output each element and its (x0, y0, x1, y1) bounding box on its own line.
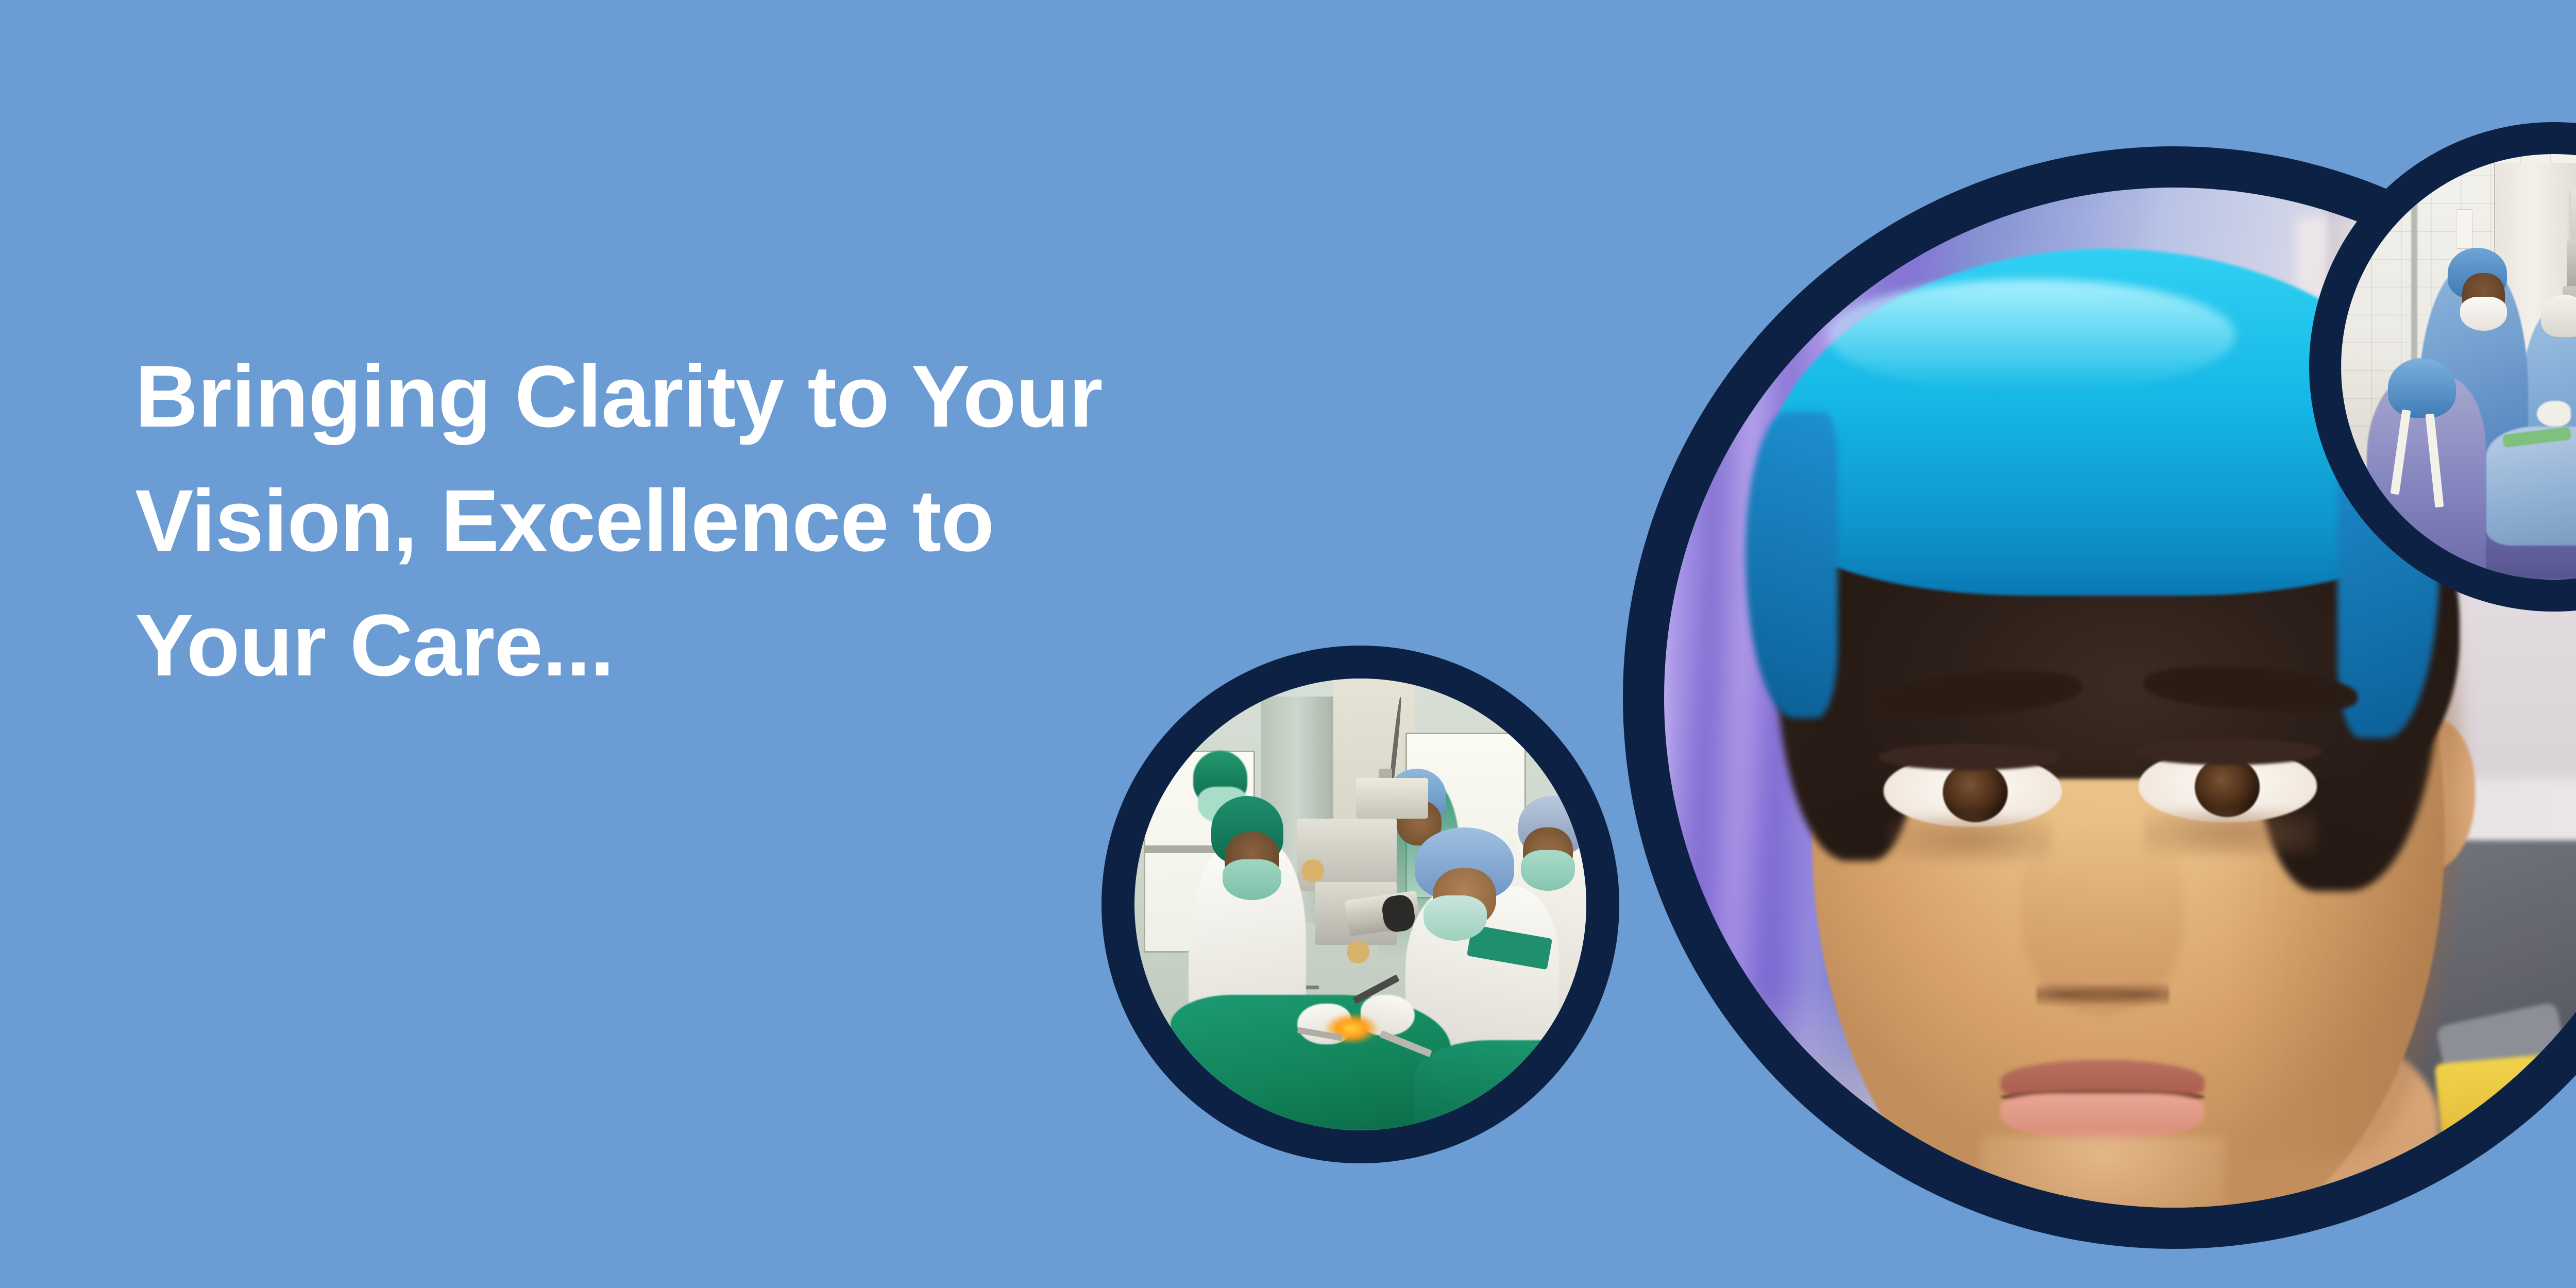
hero-banner: Bringing Clarity to Your Vision, Excelle… (0, 0, 2576, 1288)
headline-line-2: Vision, Excellence to (135, 459, 1423, 583)
operating-theatre-green-circle (1101, 646, 1619, 1163)
headline-line-1: Bringing Clarity to Your (135, 335, 1423, 459)
operating-theatre-blue-circle (2309, 122, 2576, 612)
page-title: Bringing Clarity to Your Vision, Excelle… (135, 335, 1423, 708)
operating-theatre-blue-team-image (2341, 154, 2576, 580)
operating-theatre-green-drapes-image (1134, 679, 1586, 1130)
